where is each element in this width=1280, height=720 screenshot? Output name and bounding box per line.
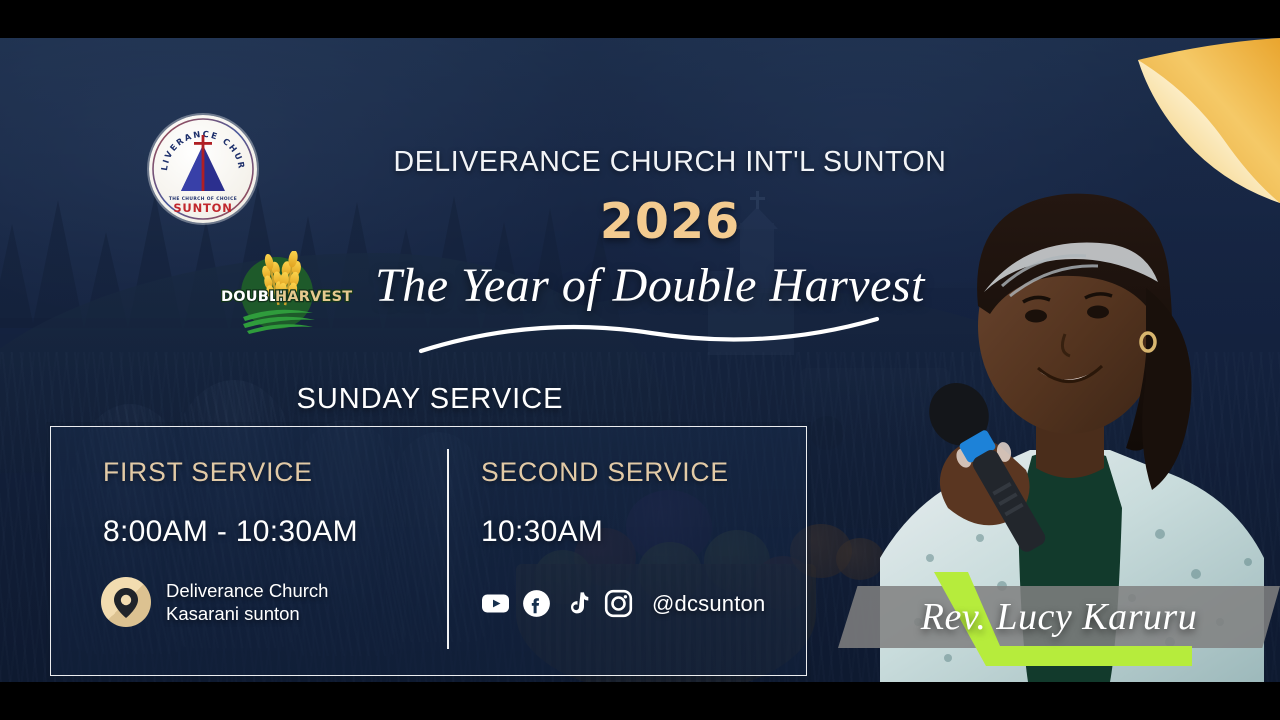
second-service-label: SECOND SERVICE bbox=[481, 457, 729, 488]
tagline-swoosh bbox=[415, 313, 885, 359]
year-heading: 2026 bbox=[0, 193, 1280, 250]
tiktok-icon[interactable] bbox=[563, 589, 592, 618]
speaker-name-text-wrap: Rev. Lucy Karuru bbox=[838, 586, 1280, 648]
second-service-time: 10:30AM bbox=[481, 515, 729, 549]
tagline: The Year of Double Harvest bbox=[340, 258, 960, 313]
service-details-box: FIRST SERVICE 8:00AM - 10:30AM SECOND SE… bbox=[50, 426, 807, 676]
first-service-time: 8:00AM - 10:30AM bbox=[103, 515, 358, 549]
social-handle: @dcsunton bbox=[652, 591, 765, 617]
service-column-first: FIRST SERVICE 8:00AM - 10:30AM bbox=[103, 457, 358, 549]
social-links: @dcsunton bbox=[481, 589, 765, 618]
church-name-text: DELIVERANCE CHURCH INT'L SUNTON bbox=[394, 146, 947, 178]
map-pin-icon bbox=[101, 577, 151, 627]
service-column-second: SECOND SERVICE 10:30AM bbox=[481, 457, 729, 549]
double-harvest-badge: DOUBLE HARVEST bbox=[213, 251, 353, 339]
speaker-name-banner: Rev. Lucy Karuru bbox=[838, 586, 1280, 648]
instagram-icon[interactable] bbox=[604, 589, 633, 618]
location-line-1: Deliverance Church bbox=[166, 579, 328, 602]
column-divider bbox=[447, 449, 449, 649]
location-block: Deliverance Church Kasarani sunton bbox=[101, 577, 328, 627]
first-service-label: FIRST SERVICE bbox=[103, 457, 358, 488]
badge-word-two: HARVEST bbox=[275, 289, 352, 305]
tagline-text: The Year of Double Harvest bbox=[375, 259, 925, 312]
location-line-2: Kasarani sunton bbox=[166, 602, 328, 625]
letterbox-top bbox=[0, 0, 1280, 38]
sunday-service-text: SUNDAY SERVICE bbox=[296, 383, 563, 415]
facebook-icon[interactable] bbox=[522, 589, 551, 618]
youtube-icon[interactable] bbox=[481, 589, 510, 618]
flyer-canvas: DELIVERANCE CHURCH THE CHURCH OF CHOICE … bbox=[0, 0, 1280, 720]
speaker-name-text: Rev. Lucy Karuru bbox=[921, 595, 1197, 639]
year-text: 2026 bbox=[600, 193, 740, 250]
letterbox-bottom bbox=[0, 682, 1280, 720]
church-name-heading: DELIVERANCE CHURCH INT'L SUNTON bbox=[0, 146, 1280, 179]
background-artwork: DELIVERANCE CHURCH THE CHURCH OF CHOICE … bbox=[0, 38, 1280, 682]
sunday-service-heading: SUNDAY SERVICE bbox=[0, 383, 860, 416]
